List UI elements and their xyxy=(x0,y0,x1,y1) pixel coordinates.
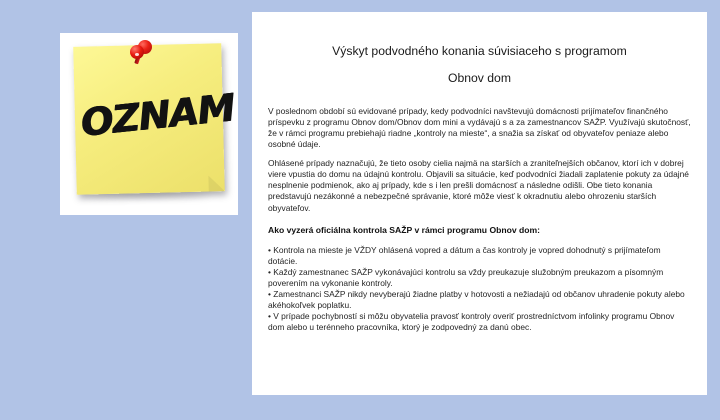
list-item: • Každý zamestnanec SAŽP vykonávajúci ko… xyxy=(268,267,691,289)
page-title-line-2: Obnov dom xyxy=(268,69,691,88)
sticky-note-label: OZNAM xyxy=(79,90,222,142)
pushpin-highlight xyxy=(135,53,139,56)
document-body: V poslednom období sú evidované prípady,… xyxy=(268,106,691,334)
bullet-list: • Kontrola na mieste je VŽDY ohlásená vo… xyxy=(268,245,691,334)
list-item: • Kontrola na mieste je VŽDY ohlásená vo… xyxy=(268,245,691,267)
page-title-line-1: Výskyt podvodného konania súvisiaceho s … xyxy=(332,44,627,58)
pushpin-icon xyxy=(128,39,154,65)
sticky-note: OZNAM xyxy=(73,43,225,195)
pushpin-head-front xyxy=(130,45,144,59)
list-item: • Zamestnanci SAŽP nikdy nevyberajú žiad… xyxy=(268,289,691,311)
announcement-image: OZNAM xyxy=(60,33,238,215)
page-title: Výskyt podvodného konania súvisiaceho s … xyxy=(268,42,691,88)
document-panel: Výskyt podvodného konania súvisiaceho s … xyxy=(252,12,707,395)
paragraph-1: V poslednom období sú evidované prípady,… xyxy=(268,106,691,150)
list-item: • V prípade pochybností si môžu obyvatel… xyxy=(268,311,691,333)
paragraph-2: Ohlásené prípady naznačujú, že tieto oso… xyxy=(268,158,691,213)
section-heading: Ako vyzerá oficiálna kontrola SAŽP v rám… xyxy=(268,225,691,236)
